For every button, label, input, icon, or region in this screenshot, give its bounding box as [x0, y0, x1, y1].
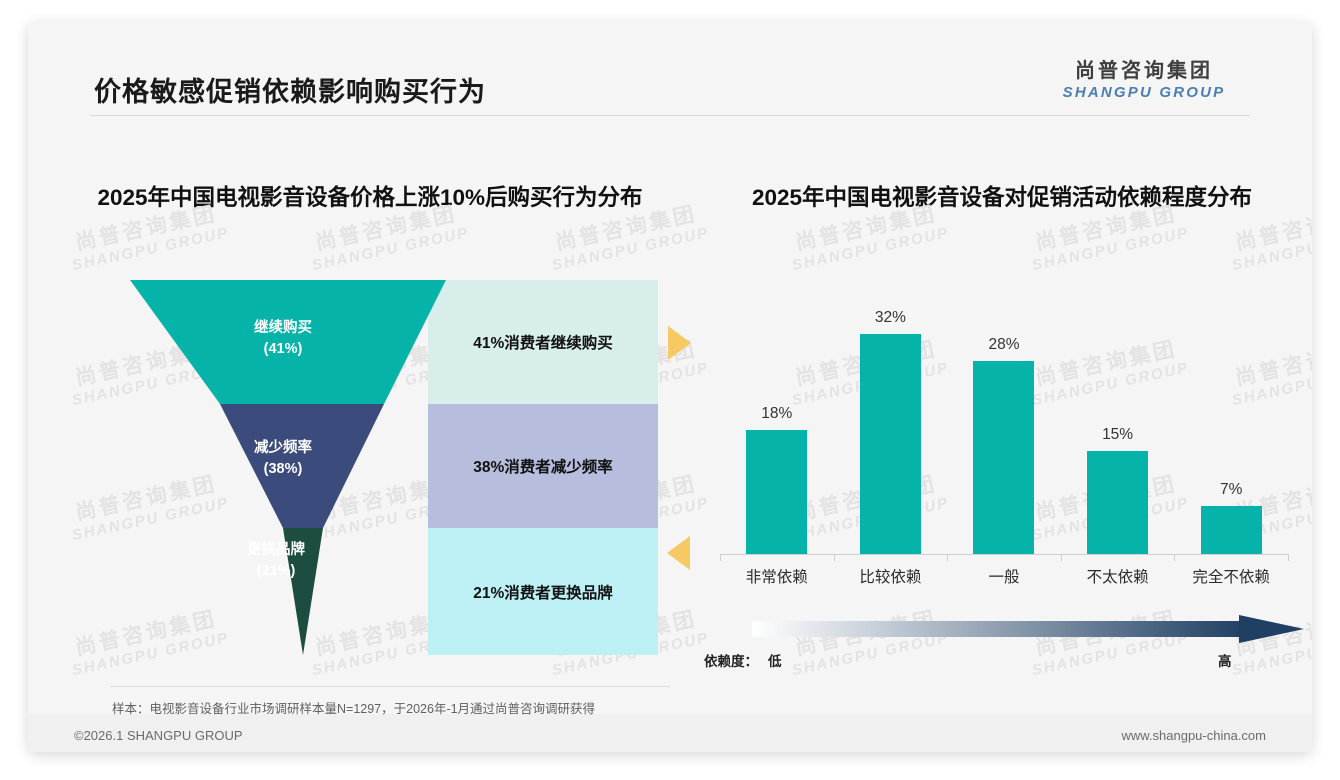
- axis-tick: [834, 554, 835, 561]
- bar-rect[interactable]: [973, 361, 1034, 554]
- footer-website[interactable]: www.shangpu-china.com: [1121, 728, 1266, 743]
- bar-rect[interactable]: [860, 334, 921, 554]
- gradient-arrow-bar: [752, 614, 1304, 644]
- bar-plot-area: 18%32%28%15%7%: [720, 272, 1288, 554]
- dependency-gradient-legend: 依赖度： 低 高: [704, 610, 1304, 678]
- legend-high-label: 高: [1218, 650, 1232, 670]
- bar-category-label: 完全不依赖: [1176, 565, 1286, 587]
- bar-rect[interactable]: [1087, 451, 1148, 554]
- bar-category-label: 一般: [949, 565, 1059, 587]
- gradient-arrow-svg: [752, 614, 1304, 644]
- x-axis-labels: 非常依赖比较依赖一般不太依赖完全不依赖: [720, 565, 1288, 587]
- funnel-chart: 41%消费者继续购买 38%消费者减少频率 21%消费者更换品牌 继续购买 (4…: [98, 250, 658, 670]
- bar-column[interactable]: 15%: [1063, 272, 1173, 554]
- bar-rect[interactable]: [746, 430, 807, 554]
- page-title: 价格敏感促销依赖影响购买行为: [94, 70, 486, 109]
- right-chart-title: 2025年中国电视影音设备对促销活动依赖程度分布: [696, 182, 1308, 214]
- axis-tick: [947, 554, 948, 561]
- axis-tick: [720, 554, 721, 561]
- bar-column[interactable]: 28%: [949, 272, 1059, 554]
- bar-column[interactable]: 32%: [835, 272, 945, 554]
- logo-english-text: SHANGPU GROUP: [1034, 84, 1254, 102]
- bar-column[interactable]: 18%: [722, 272, 832, 554]
- arrow-left-icon: [664, 532, 694, 574]
- funnel-segment-reduce: [220, 404, 384, 528]
- bar-value-label: 15%: [1102, 426, 1133, 444]
- note-divider-top: [110, 686, 670, 687]
- footer-copyright: ©2026.1 SHANGPU GROUP: [74, 728, 243, 743]
- bar-value-label: 7%: [1220, 481, 1242, 499]
- dependency-bar-chart: 18%32%28%15%7% 非常依赖比较依赖一般不太依赖完全不依赖: [704, 272, 1304, 602]
- bar-value-label: 28%: [988, 336, 1019, 354]
- arrow-right-icon: [664, 322, 694, 364]
- bar-value-label: 18%: [761, 405, 792, 423]
- header-divider: [90, 115, 1250, 116]
- legend-low-label: 低: [768, 650, 782, 670]
- axis-tick: [1288, 554, 1289, 561]
- x-axis-ticks: [720, 554, 1288, 561]
- slide-card: 尚普咨询集团SHANGPU GROUP尚普咨询集团SHANGPU GROUP尚普…: [28, 22, 1312, 752]
- bar-category-label: 非常依赖: [722, 565, 832, 587]
- funnel-segment-switch: [283, 528, 323, 655]
- source-note: 样本：电视影音设备行业市场调研样本量N=1297，于2026年-1月通过尚普咨询…: [112, 698, 595, 717]
- funnel-shape: [98, 250, 658, 670]
- axis-tick: [1061, 554, 1062, 561]
- legend-title: 依赖度：: [704, 650, 758, 670]
- bar-category-label: 不太依赖: [1063, 565, 1173, 587]
- left-chart-title: 2025年中国电视影音设备价格上涨10%后购买行为分布: [60, 182, 680, 214]
- brand-logo: 尚普咨询集团 SHANGPU GROUP: [1034, 60, 1254, 102]
- funnel-segment-continue: [130, 280, 446, 404]
- slide-footer: ©2026.1 SHANGPU GROUP www.shangpu-china.…: [28, 714, 1312, 752]
- slide-header: 价格敏感促销依赖影响购买行为 尚普咨询集团 SHANGPU GROUP: [28, 22, 1312, 118]
- logo-chinese-text: 尚普咨询集团: [1034, 60, 1254, 83]
- bar-category-label: 比较依赖: [835, 565, 945, 587]
- axis-tick: [1174, 554, 1175, 561]
- bar-column[interactable]: 7%: [1176, 272, 1286, 554]
- bar-value-label: 32%: [875, 309, 906, 327]
- bar-rect[interactable]: [1201, 506, 1262, 554]
